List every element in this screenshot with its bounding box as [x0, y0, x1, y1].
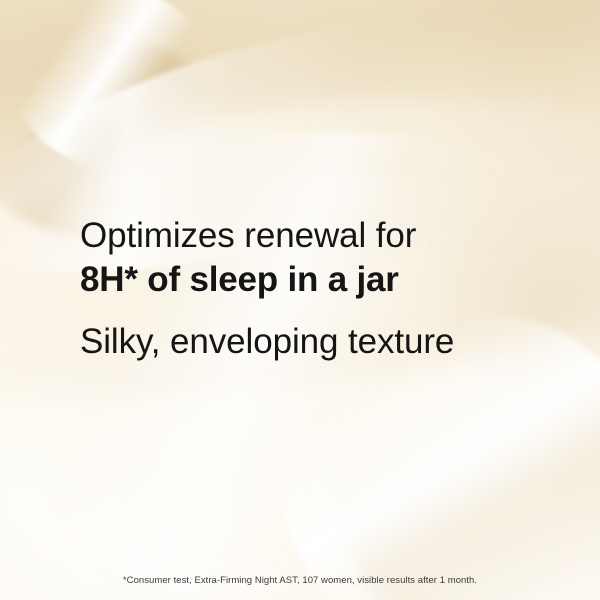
headline-line-2: 8H* of sleep in a jar	[80, 258, 550, 302]
headline-block: Optimizes renewal for 8H* of sleep in a …	[80, 214, 550, 364]
footnote-disclaimer: *Consumer test, Extra-Firming Night AST,…	[0, 574, 600, 587]
product-texture-banner: Optimizes renewal for 8H* of sleep in a …	[0, 0, 600, 600]
headline-line-1: Optimizes renewal for	[80, 214, 550, 258]
headline-line-3: Silky, enveloping texture	[80, 320, 550, 364]
cream-gloss-highlight-top-left	[3, 0, 225, 178]
cream-gloss-diagonal-secondary	[0, 137, 600, 600]
